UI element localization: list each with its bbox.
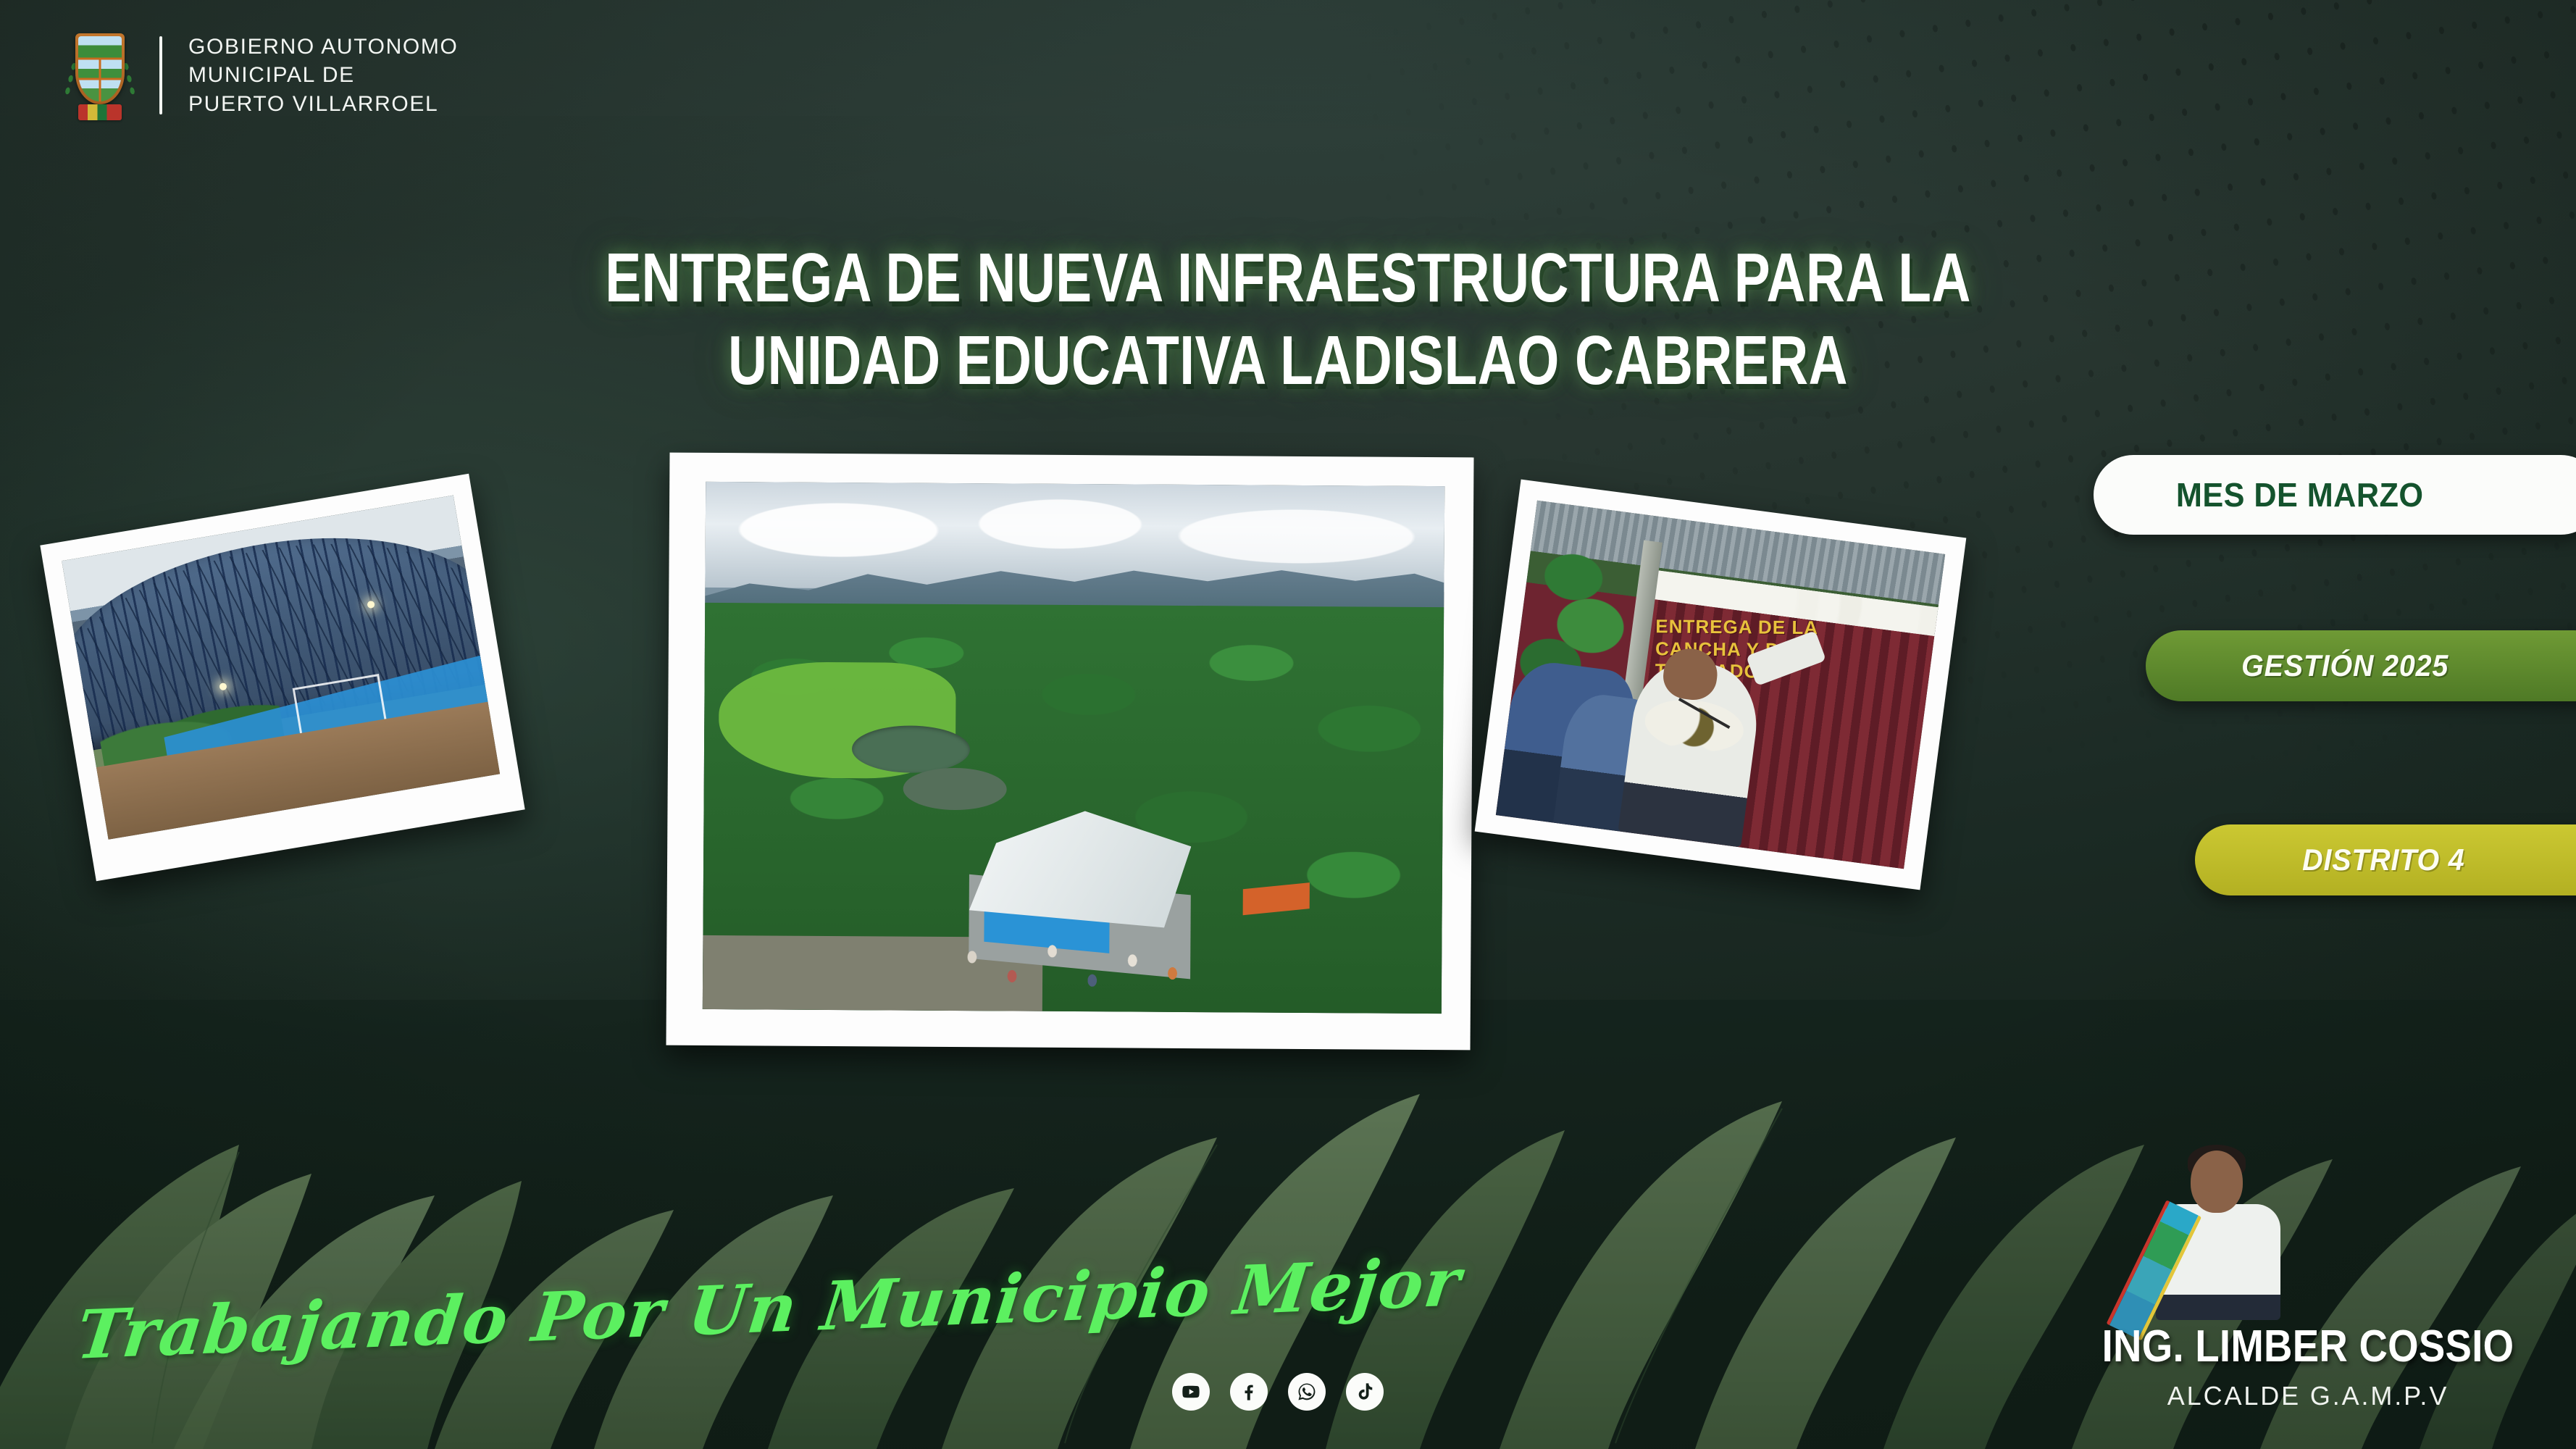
badge-district[interactable]: DISTRITO 4: [2195, 824, 2576, 895]
institution-line-3: PUERTO VILLARROEL: [188, 90, 459, 119]
facebook-icon[interactable]: [1230, 1373, 1268, 1411]
badge-management-label: GESTIÓN 2025: [2241, 648, 2449, 683]
photo-card-covered-court[interactable]: [40, 474, 524, 882]
header-divider: [159, 36, 162, 114]
institution-line-1: GOBIERNO AUTONOMO: [188, 33, 459, 62]
mayor-name: ING. LIMBER COSSIO: [2094, 1321, 2522, 1372]
mayor-block: ING. LIMBER COSSIO ALCALDE G.A.M.P.V: [2065, 1130, 2576, 1449]
badge-month-label: MES DE MARZO: [2176, 475, 2424, 514]
coat-of-arms-icon: [65, 25, 135, 126]
mayor-role: ALCALDE G.A.M.P.V: [2065, 1381, 2551, 1411]
photo-image-aerial-view: [703, 482, 1444, 1014]
institution-name: GOBIERNO AUTONOMO MUNICIPAL DE PUERTO VI…: [188, 33, 459, 119]
title-line-1: ENTREGA DE NUEVA INFRAESTRUCTURA PARA LA: [283, 239, 2293, 317]
banner-line-1: ENTREGA DE LA: [1656, 615, 1911, 640]
badge-district-label: DISTRITO 4: [2302, 843, 2464, 877]
title-line-2: UNIDAD EDUCATIVA LADISLAO CABRERA: [283, 322, 2293, 400]
youtube-icon[interactable]: [1172, 1373, 1210, 1411]
poster-canvas: GOBIERNO AUTONOMO MUNICIPAL DE PUERTO VI…: [0, 0, 2576, 1449]
whatsapp-icon[interactable]: [1288, 1373, 1326, 1411]
brand-header: GOBIERNO AUTONOMO MUNICIPAL DE PUERTO VI…: [65, 25, 459, 126]
photo-card-aerial-view[interactable]: [666, 453, 1474, 1051]
photo-card-ceremony[interactable]: ENTREGA DE LA CANCHA Y DEL TINGLADO: [1475, 480, 1967, 890]
page-title: ENTREGA DE NUEVA INFRAESTRUCTURA PARA LA…: [283, 239, 2293, 401]
badge-management-year[interactable]: GESTIÓN 2025: [2146, 630, 2576, 701]
photo-image-covered-court: [62, 496, 500, 840]
social-links: [1172, 1373, 1384, 1411]
institution-line-2: MUNICIPAL DE: [188, 61, 459, 90]
badge-month[interactable]: MES DE MARZO: [2094, 455, 2576, 535]
photo-image-ceremony: ENTREGA DE LA CANCHA Y DEL TINGLADO: [1496, 501, 1945, 869]
tiktok-icon[interactable]: [1346, 1373, 1384, 1411]
